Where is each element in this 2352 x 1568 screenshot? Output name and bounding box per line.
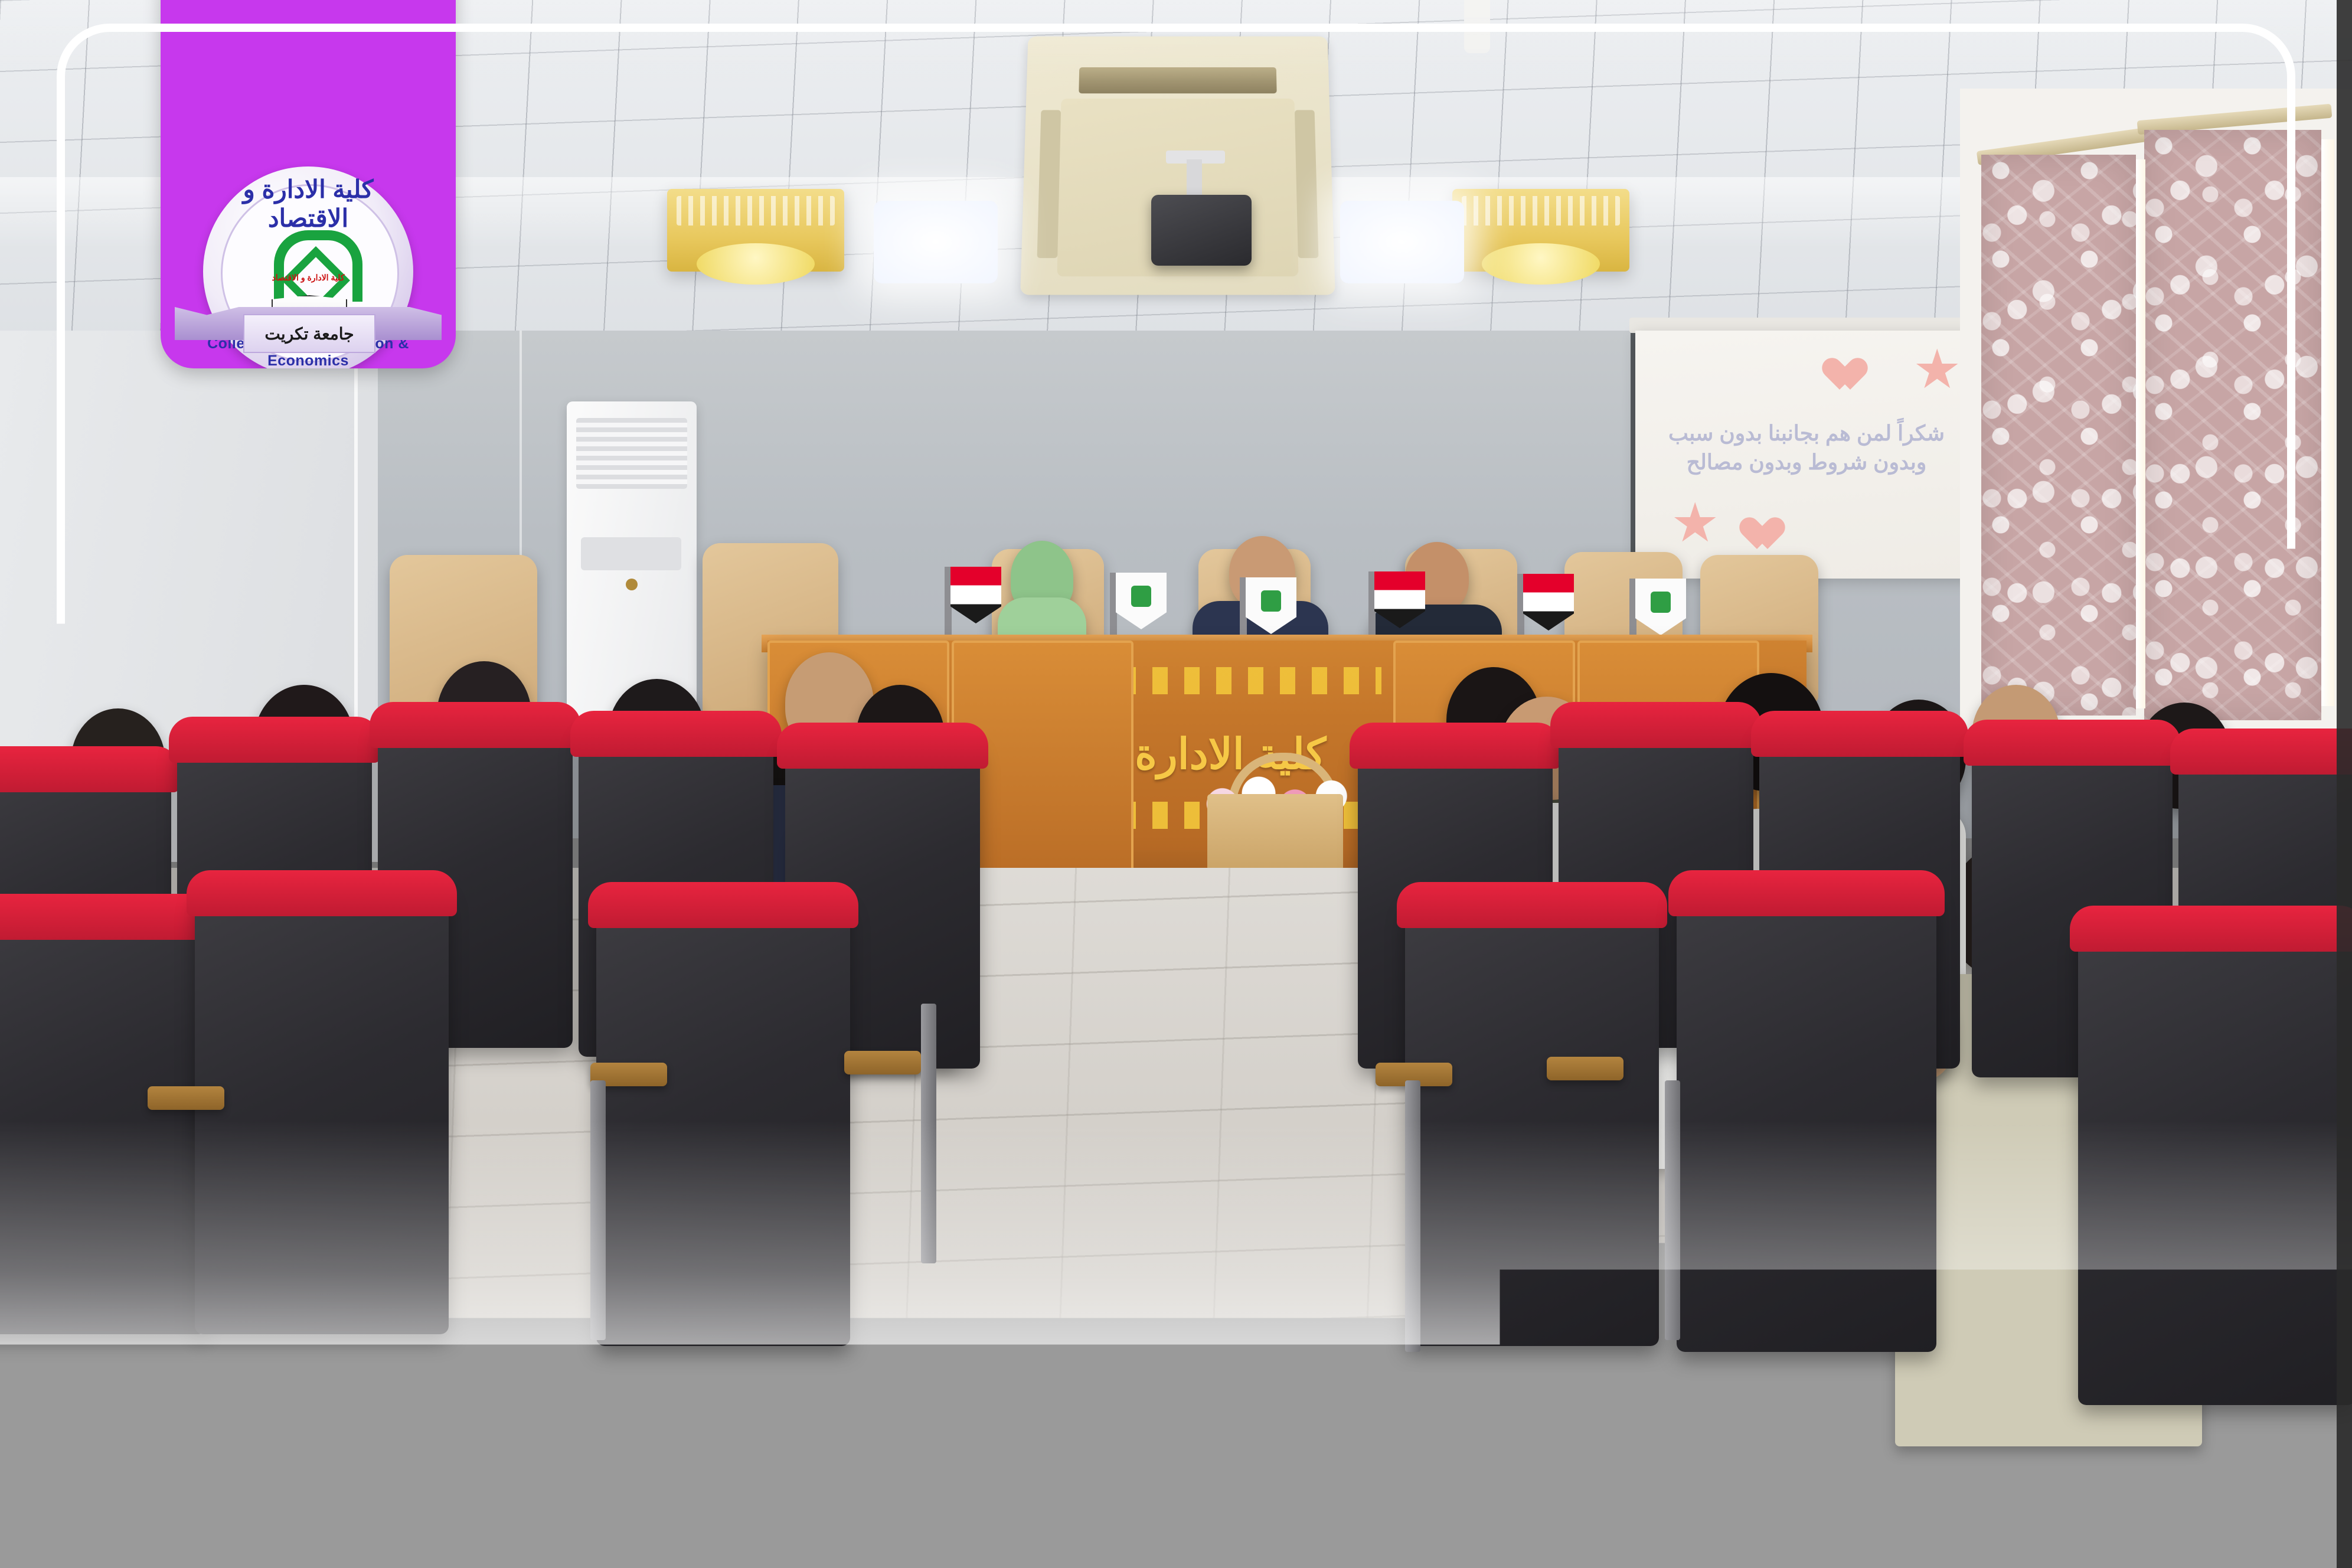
ribbon-plate: جامعة تكريت xyxy=(243,314,375,353)
page-title: كلية الادارة والاقتصاد - شعبة الاعلام وا… xyxy=(0,1237,2352,1312)
curtain-left xyxy=(1981,155,2136,716)
ac-side-vent-left xyxy=(1037,110,1061,258)
phone-icon[interactable] xyxy=(1760,1439,1834,1513)
seal-arabic-text: كلية الادارة و الاقتصاد xyxy=(203,175,413,233)
contact-footer: https://www.facebook.com/cade.tu.edu.iq … xyxy=(78,1412,2274,1540)
window-wall xyxy=(1960,89,2352,756)
facebook-url[interactable]: https://www.facebook.com/cade.tu.edu.iq xyxy=(168,1439,770,1472)
ceiling-lamp-right xyxy=(1452,189,1629,272)
social-links: https://www.facebook.com/cade.tu.edu.iq … xyxy=(168,1439,770,1513)
college-logo-badge: كلية الادارة و الاقتصاد كلية الادارة و ا… xyxy=(161,0,456,368)
footer-group-social: https://www.facebook.com/cade.tu.edu.iq … xyxy=(78,1412,770,1540)
window-light-gap-1 xyxy=(2136,159,2145,708)
flag-pole-1 xyxy=(945,567,952,643)
curtain-right xyxy=(2144,130,2321,720)
instagram-url[interactable]: https://www.instagram.com/cade.tu xyxy=(168,1479,770,1513)
footer-group-social-2: https://twitter.com/home https://www.lin… xyxy=(825,1412,1280,1540)
footer-divider-1 xyxy=(796,1441,799,1511)
ceiling-lamp-left xyxy=(667,189,844,272)
social-links-2: https://twitter.com/home https://www.lin… xyxy=(840,1439,1280,1513)
heart-shape-bottom xyxy=(1747,518,1786,554)
email-address[interactable]: cade.em@tu.edu.iq xyxy=(1425,1459,1705,1492)
ceiling-panel-light-left xyxy=(874,201,998,283)
footer-group-email: cade.em@tu.edu.iq xyxy=(1335,1412,1705,1540)
email-lines: cade.em@tu.edu.iq xyxy=(1425,1459,1705,1492)
ac-indicator xyxy=(626,579,638,590)
ceiling-panel-light-right xyxy=(1340,201,1464,283)
twitter-url[interactable]: https://twitter.com/home xyxy=(840,1439,1280,1472)
chair-arm-r2 xyxy=(1547,1057,1623,1080)
dashed-separator xyxy=(78,1384,2274,1391)
projection-screen: ★ شكراً لمن هم بجانبنا بدون سبب وبدون شر… xyxy=(1635,331,1978,579)
seal-ribbon: جامعة تكريت xyxy=(175,296,442,354)
linkedin-url[interactable]: https://www.linkedin.com/feed xyxy=(840,1479,1280,1513)
heart-shape-top xyxy=(1830,359,1869,394)
globe-icon[interactable] xyxy=(78,1439,152,1513)
chair-arm-l3 xyxy=(844,1051,921,1074)
projection-screen-text: شكراً لمن هم بجانبنا بدون سبب وبدون شروط… xyxy=(1653,419,1960,476)
chair-arm-l1 xyxy=(148,1086,224,1110)
ac-control-panel xyxy=(581,537,681,570)
footer-group-phone: 07718055128 xyxy=(1760,1412,2037,1540)
projector xyxy=(1151,195,1252,266)
footer-divider-2 xyxy=(1306,1441,1309,1511)
window-light-gap-2 xyxy=(2321,139,2334,706)
ac-side-vent-right xyxy=(1295,110,1318,258)
university-name: جامعة تكريت xyxy=(264,324,354,344)
envelope-icon[interactable] xyxy=(1335,1439,1409,1513)
wall-ac-unit xyxy=(567,401,697,732)
emblem-red-text: كلية الادارة و الاقتصاد xyxy=(272,273,345,283)
lamp-bulb-left xyxy=(697,243,815,285)
lamp-bulb-right xyxy=(1482,243,1600,285)
phone-lines: 07718055128 xyxy=(1850,1459,2037,1492)
right-edge-bar xyxy=(2337,0,2352,1568)
phone-number[interactable]: 07718055128 xyxy=(1850,1459,2037,1492)
poster-canvas: ★ شكراً لمن هم بجانبنا بدون سبب وبدون شر… xyxy=(0,0,2352,1568)
ac-grille xyxy=(576,418,687,489)
